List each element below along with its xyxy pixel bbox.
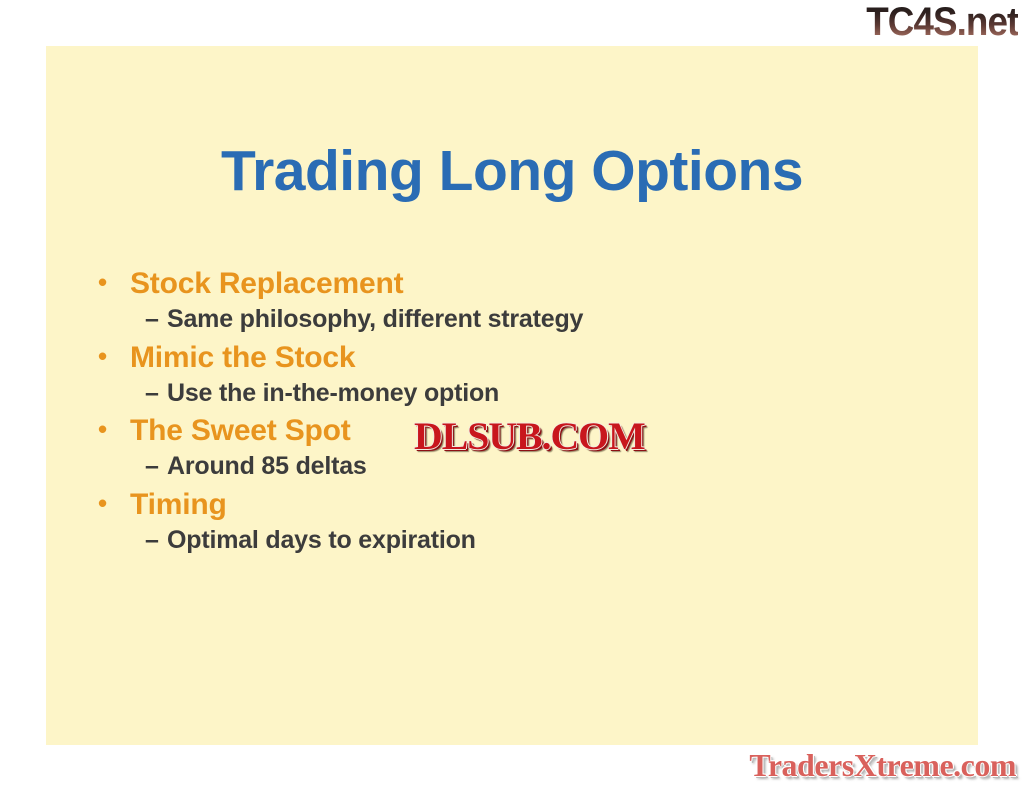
bullet-dash-icon: – xyxy=(92,524,167,558)
list-item-level1-label: Mimic the Stock xyxy=(130,338,355,378)
bullet-dot-icon: • xyxy=(92,338,130,376)
bullet-group: • Stock Replacement – Same philosophy, d… xyxy=(92,264,938,337)
bullet-group: • Mimic the Stock – Use the in-the-money… xyxy=(92,338,938,411)
bullet-dot-icon: • xyxy=(92,264,130,302)
slide-canvas: Trading Long Options • Stock Replacement… xyxy=(46,46,978,745)
tradersxtreme-brand-logo: TradersXtreme.com xyxy=(749,749,1016,781)
bullet-dash-icon: – xyxy=(92,450,167,484)
presentation-slide-screenshot: { "brand": { "top_logo": "TC4S.net", "bo… xyxy=(0,0,1024,791)
list-item-level2-label: Around 85 deltas xyxy=(167,450,367,484)
list-item-level1-label: Timing xyxy=(130,485,227,525)
bullet-dash-icon: – xyxy=(92,377,167,411)
bullet-list: • Stock Replacement – Same philosophy, d… xyxy=(92,264,938,559)
list-item-level2-label: Optimal days to expiration xyxy=(167,524,476,558)
list-item-level2-label: Same philosophy, different strategy xyxy=(167,303,583,337)
list-item-level1: • Stock Replacement xyxy=(92,264,938,304)
list-item-level1-label: The Sweet Spot xyxy=(130,411,351,451)
list-item-level2-label: Use the in-the-money option xyxy=(167,377,499,411)
list-item-level2: – Optimal days to expiration xyxy=(92,524,938,558)
list-item-level1: • Timing xyxy=(92,485,938,525)
bullet-dash-icon: – xyxy=(92,303,167,337)
page-title: Trading Long Options xyxy=(46,142,978,202)
bullet-dot-icon: • xyxy=(92,411,130,449)
list-item-level2: – Same philosophy, different strategy xyxy=(92,303,938,337)
list-item-level1: • Mimic the Stock xyxy=(92,338,938,378)
tc4s-brand-logo: TC4S.net xyxy=(866,2,1018,42)
dlsub-watermark: DLSUB.COM xyxy=(414,417,645,456)
bullet-dot-icon: • xyxy=(92,485,130,523)
list-item-level2: – Use the in-the-money option xyxy=(92,377,938,411)
list-item-level1-label: Stock Replacement xyxy=(130,264,403,304)
bullet-group: • Timing – Optimal days to expiration xyxy=(92,485,938,558)
